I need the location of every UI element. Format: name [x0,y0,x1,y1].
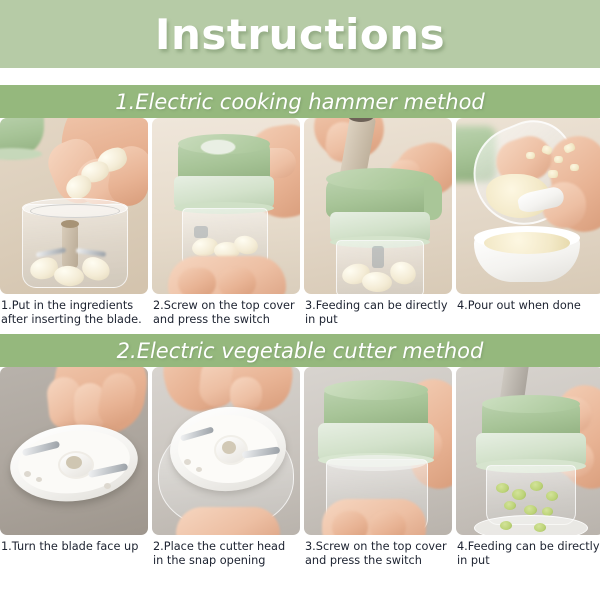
step-image-2-1 [0,367,148,535]
poster-title-band: Instructions [0,0,600,68]
title-divider [0,68,600,85]
steps-row-1: 1.Put in the ingredients after inserting… [0,118,600,326]
step-card-2-2: 2.Place the cutter head in the snap open… [152,367,300,567]
step-caption-1-3: 3.Feeding can be directly in put [304,294,452,326]
instruction-poster: Instructions 1.Electric cooking hammer m… [0,0,600,600]
step-caption-1-1: 1.Put in the ingredients after inserting… [0,294,148,326]
step-card-1-1: 1.Put in the ingredients after inserting… [0,118,148,326]
section-bar-1: 1.Electric cooking hammer method [0,85,600,118]
step-card-1-2: 2.Screw on the top cover and press the s… [152,118,300,326]
step-image-2-2 [152,367,300,535]
section-title-1: 1.Electric cooking hammer method [115,90,485,114]
step-caption-2-2: 2.Place the cutter head in the snap open… [152,535,300,567]
step-image-1-2 [152,118,300,294]
step-caption-2-4: 4.Feeding can be directly in put [456,535,600,567]
step-caption-1-2: 2.Screw on the top cover and press the s… [152,294,300,326]
step-image-1-1 [0,118,148,294]
step-image-2-3 [304,367,452,535]
step-card-2-3: 3.Screw on the top cover and press the s… [304,367,452,567]
step-card-1-3: 3.Feeding can be directly in put [304,118,452,326]
step-card-2-4: 4.Feeding can be directly in put [456,367,600,567]
step-caption-2-3: 3.Screw on the top cover and press the s… [304,535,452,567]
step-image-1-4 [456,118,600,294]
page-title: Instructions [155,10,445,59]
step-image-1-3 [304,118,452,294]
step-card-1-4: 4.Pour out when done [456,118,600,326]
step-card-2-1: 1.Turn the blade face up [0,367,148,567]
step-image-2-4 [456,367,600,535]
steps-row-2: 1.Turn the blade face up [0,367,600,567]
step-caption-1-4: 4.Pour out when done [456,294,600,313]
section-title-2: 2.Electric vegetable cutter method [117,339,484,363]
section-bar-2: 2.Electric vegetable cutter method [0,334,600,367]
step-caption-2-1: 1.Turn the blade face up [0,535,148,554]
